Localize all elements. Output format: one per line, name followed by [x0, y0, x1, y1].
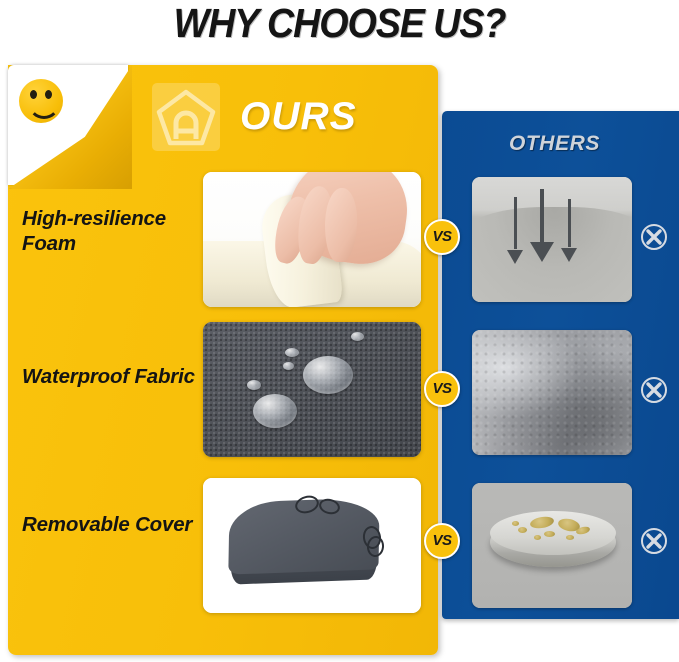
- water-droplet: [247, 380, 261, 390]
- others-photo-wet-fabric: [472, 330, 632, 455]
- smiley-face-icon: [19, 79, 63, 123]
- water-droplet: [303, 356, 353, 394]
- ours-heading: OURS: [240, 93, 357, 141]
- page-title: WHY CHOOSE US?: [27, 0, 652, 46]
- feature-label-high-resilience-foam: High-resilience Foam: [22, 206, 197, 256]
- cushion-tie-strap: [366, 535, 385, 558]
- water-droplet: [351, 332, 364, 341]
- sagging-foam-image: [472, 177, 632, 302]
- others-photo-stained-cushion: [472, 483, 632, 608]
- ours-photo-waterproof-fabric: [203, 322, 421, 457]
- down-arrow-icon: [540, 189, 544, 247]
- feature-label-removable-cover: Removable Cover: [22, 512, 197, 537]
- stain-spot: [534, 535, 541, 540]
- water-droplet: [283, 362, 294, 370]
- others-heading: OTHERS: [442, 132, 667, 156]
- x-circle-icon: [640, 223, 668, 251]
- ours-photo-removable-cover: [203, 478, 421, 613]
- x-circle-icon: [640, 376, 668, 404]
- waterproof-fabric-image: [203, 322, 421, 457]
- house-pentagon-logo-icon: [152, 83, 220, 151]
- stained-cushion-image: [472, 483, 632, 608]
- stain-spot: [566, 535, 574, 540]
- feature-label-waterproof-fabric: Waterproof Fabric: [22, 364, 197, 389]
- others-photo-sagging-foam: [472, 177, 632, 302]
- ours-photo-high-resilience-foam: [203, 172, 421, 307]
- down-arrow-icon: [568, 199, 571, 247]
- wet-fabric-image: [472, 330, 632, 455]
- vs-badge: VS: [424, 219, 460, 255]
- cushion-shape: [229, 500, 379, 592]
- x-circle-icon: [640, 527, 668, 555]
- stain-spot: [544, 531, 555, 537]
- smiley-mouth: [28, 95, 60, 119]
- vs-badge: VS: [424, 371, 460, 407]
- water-droplet: [253, 394, 297, 428]
- stain-spot: [512, 521, 519, 526]
- vs-badge: VS: [424, 523, 460, 559]
- chair-cushion-image: [203, 478, 421, 613]
- stain-spot: [518, 527, 527, 533]
- water-droplet: [285, 348, 299, 357]
- down-arrow-icon: [514, 197, 517, 249]
- hand-pinching-foam-image: [203, 172, 421, 307]
